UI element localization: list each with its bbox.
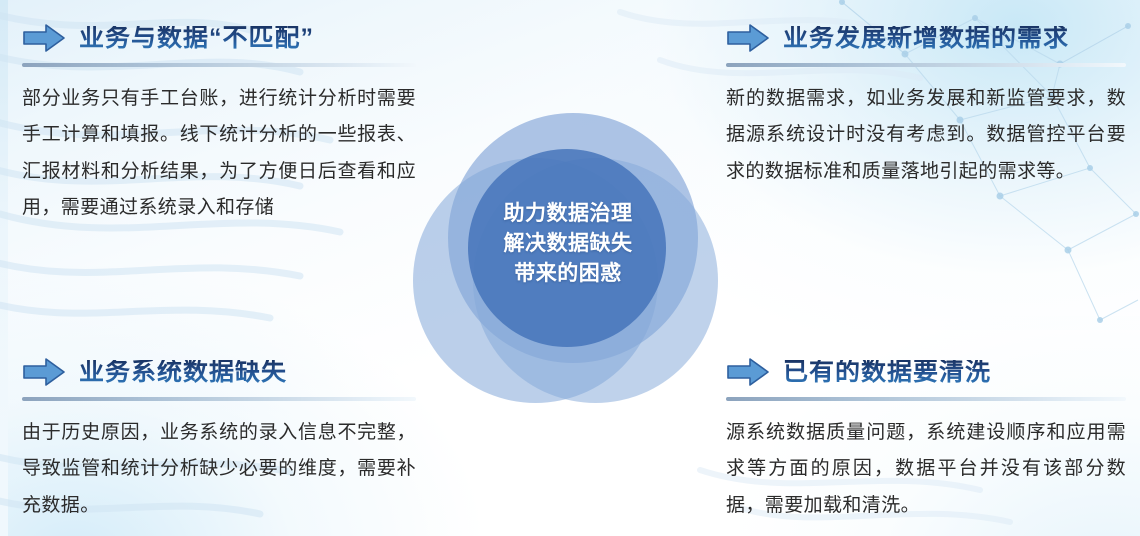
center-headline-line-2: 解决数据缺失 <box>465 229 671 259</box>
quadrant-top-left: 业务与数据“不匹配” 部分业务只有手工台账，进行统计分析时需要手工计算和填报。线… <box>22 18 416 227</box>
quadrant-top-right-header: 业务发展新增数据的需求 <box>726 18 1126 58</box>
infographic-slide: 助力数据治理 解决数据缺失 带来的困惑 业务与数据“不匹配” 部分业务只有手工台… <box>0 0 1140 536</box>
quadrant-top-right-divider <box>726 63 1126 67</box>
quadrant-top-left-header: 业务与数据“不匹配” <box>22 18 416 58</box>
quadrant-bottom-right-header: 已有的数据要清洗 <box>726 352 1126 392</box>
quadrant-bottom-right-divider <box>726 397 1126 401</box>
quadrant-bottom-left-divider <box>22 397 416 401</box>
quadrant-bottom-left-header: 业务系统数据缺失 <box>22 352 416 392</box>
quadrant-bottom-left-title: 业务系统数据缺失 <box>79 360 287 385</box>
center-headline-line-3: 带来的困惑 <box>465 259 671 289</box>
arrow-right-icon <box>726 23 770 53</box>
quadrant-bottom-right-title: 已有的数据要清洗 <box>783 360 991 385</box>
quadrant-top-left-title: 业务与数据“不匹配” <box>79 26 314 51</box>
center-headline-line-1: 助力数据治理 <box>465 199 671 229</box>
center-circle-diagram: 助力数据治理 解决数据缺失 带来的困惑 <box>413 113 718 403</box>
quadrant-top-right-title: 业务发展新增数据的需求 <box>783 26 1069 51</box>
background-edge-left <box>0 0 8 536</box>
quadrant-bottom-left-body: 由于历史原因，业务系统的录入信息不完整，导致监管和统计分析缺少必要的维度，需要补… <box>22 415 416 524</box>
quadrant-top-right-body: 新的数据需求，如业务发展和新监管要求，数据源系统设计时没有考虑到。数据管控平台要… <box>726 81 1126 190</box>
quadrant-top-left-divider <box>22 63 416 67</box>
quadrant-bottom-right-body: 源系统数据质量问题，系统建设顺序和应用需求等方面的原因，数据平台并没有该部分数据… <box>726 415 1126 524</box>
quadrant-bottom-right: 已有的数据要清洗 源系统数据质量问题，系统建设顺序和应用需求等方面的原因，数据平… <box>726 352 1126 524</box>
quadrant-top-left-body: 部分业务只有手工台账，进行统计分析时需要手工计算和填报。线下统计分析的一些报表、… <box>22 81 416 227</box>
center-headline: 助力数据治理 解决数据缺失 带来的困惑 <box>465 199 671 288</box>
arrow-right-icon <box>726 357 770 387</box>
arrow-right-icon <box>22 23 66 53</box>
arrow-right-icon <box>22 357 66 387</box>
quadrant-bottom-left: 业务系统数据缺失 由于历史原因，业务系统的录入信息不完整，导致监管和统计分析缺少… <box>22 352 416 524</box>
quadrant-top-right: 业务发展新增数据的需求 新的数据需求，如业务发展和新监管要求，数据源系统设计时没… <box>726 18 1126 190</box>
